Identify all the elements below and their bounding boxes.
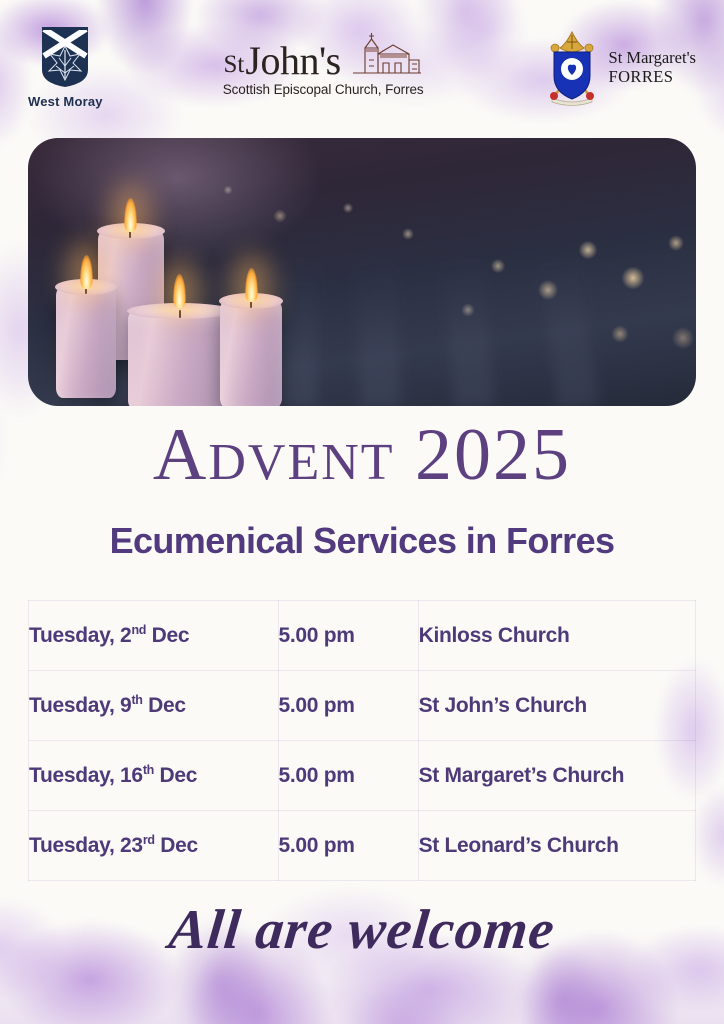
st-johns-wordmark: St John's	[224, 30, 423, 80]
date-ordinal: rd	[143, 833, 155, 847]
date-month: Dec	[155, 834, 198, 857]
schedule-body: Tuesday, 2nd Dec 5.00 pm Kinloss Church …	[29, 601, 696, 881]
date-month: Dec	[143, 694, 186, 717]
table-row: Tuesday, 2nd Dec 5.00 pm Kinloss Church	[29, 601, 696, 671]
welcome-message: All are welcome	[0, 898, 724, 962]
date-ordinal: nd	[131, 623, 146, 637]
st-johns-main: John's	[245, 42, 340, 80]
date-month: Dec	[146, 624, 189, 647]
schedule-time-cell: 5.00 pm	[278, 811, 418, 881]
table-row: Tuesday, 16th Dec 5.00 pm St Margaret’s …	[29, 741, 696, 811]
st-johns-subtitle: Scottish Episcopal Church, Forres	[223, 82, 424, 97]
advent-poster: West Moray St John's	[0, 0, 724, 1024]
advent-candles-image	[28, 138, 696, 406]
date-text: Tuesday, 16	[29, 764, 143, 787]
schedule-time-cell: 5.00 pm	[278, 601, 418, 671]
candle-left	[56, 286, 116, 398]
st-margarets-wordmark: St Margaret's FORRES	[609, 48, 696, 87]
schedule-date-cell: Tuesday, 16th Dec	[29, 741, 279, 811]
schedule-place-cell: St Margaret’s Church	[418, 741, 695, 811]
logo-row: West Moray St John's	[0, 26, 724, 116]
schedule-date-cell: Tuesday, 2nd Dec	[29, 601, 279, 671]
table-row: Tuesday, 23rd Dec 5.00 pm St Leonard’s C…	[29, 811, 696, 881]
schedule-time-cell: 5.00 pm	[278, 741, 418, 811]
date-ordinal: th	[143, 763, 154, 777]
schedule-place-cell: St Leonard’s Church	[418, 811, 695, 881]
st-margarets-crest-icon	[544, 28, 600, 106]
table-row: Tuesday, 9th Dec 5.00 pm St John’s Churc…	[29, 671, 696, 741]
west-moray-label: West Moray	[28, 94, 103, 109]
candle-front	[128, 310, 232, 406]
st-johns-prefix: St	[224, 52, 245, 77]
west-moray-shield-icon	[39, 26, 91, 88]
candle-right	[220, 300, 282, 406]
page-subtitle: Ecumenical Services in Forres	[0, 520, 724, 562]
st-margarets-line2: FORRES	[609, 67, 696, 86]
st-margarets-line1: St Margaret's	[609, 48, 696, 67]
church-building-icon	[351, 30, 423, 79]
schedule-date-cell: Tuesday, 9th Dec	[29, 671, 279, 741]
service-schedule-table: Tuesday, 2nd Dec 5.00 pm Kinloss Church …	[28, 600, 696, 881]
date-month: Dec	[154, 764, 197, 787]
logo-st-margarets: St Margaret's FORRES	[544, 28, 696, 106]
page-title: Advent 2025	[0, 418, 724, 492]
date-text: Tuesday, 9	[29, 694, 131, 717]
date-text: Tuesday, 2	[29, 624, 131, 647]
schedule-date-cell: Tuesday, 23rd Dec	[29, 811, 279, 881]
schedule-time-cell: 5.00 pm	[278, 671, 418, 741]
logo-st-johns: St John's	[223, 30, 424, 97]
schedule-place-cell: Kinloss Church	[418, 601, 695, 671]
date-ordinal: th	[131, 693, 142, 707]
schedule-place-cell: St John’s Church	[418, 671, 695, 741]
date-text: Tuesday, 23	[29, 834, 143, 857]
logo-west-moray: West Moray	[28, 26, 103, 109]
